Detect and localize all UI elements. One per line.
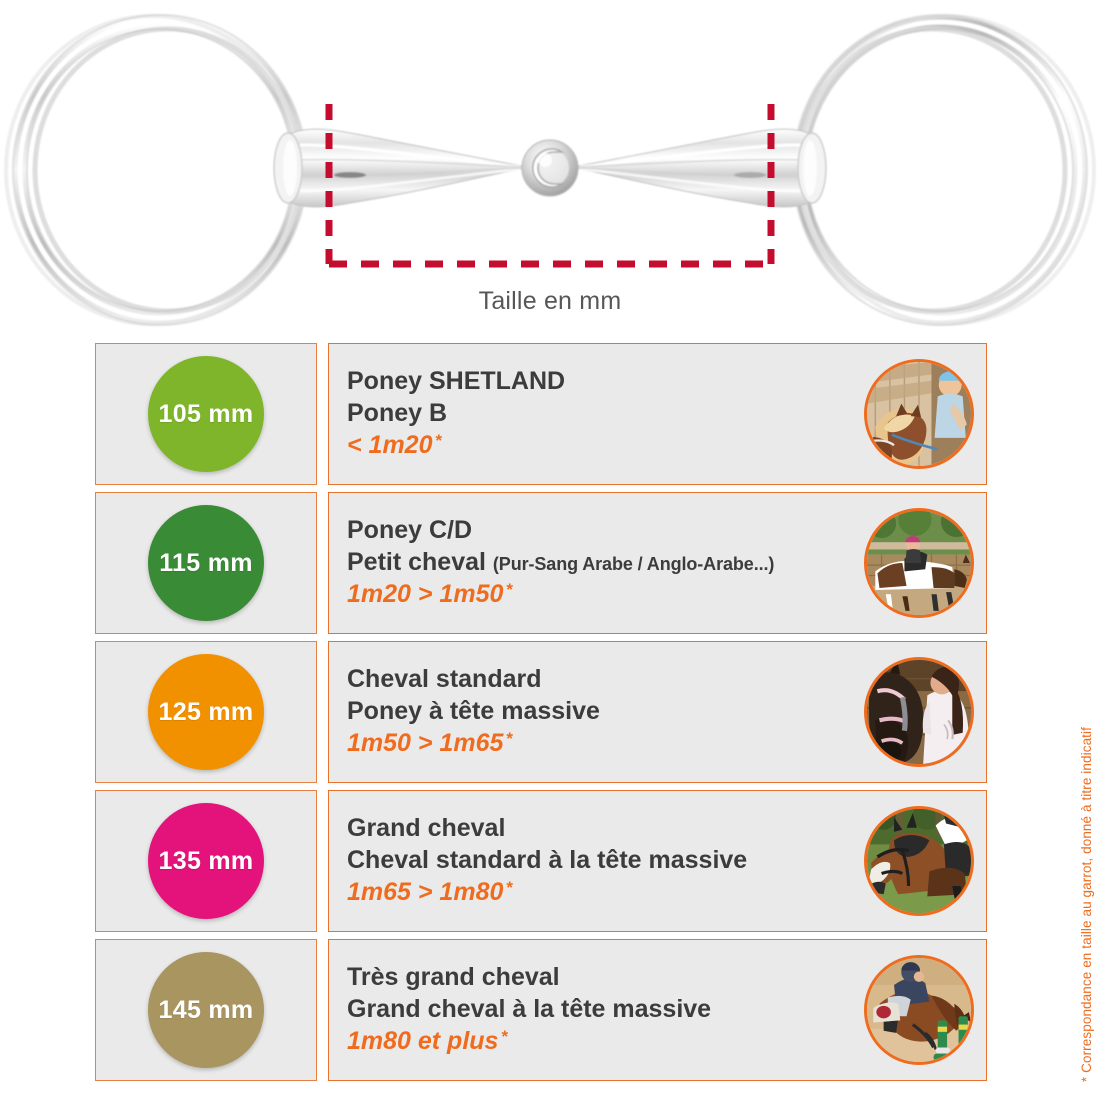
row-line1: Poney SHETLAND <box>347 366 844 398</box>
row-line2-wrap: Poney B <box>347 398 844 430</box>
bit-ring-left <box>6 15 307 325</box>
bit-arm-left <box>274 129 528 207</box>
row-height: 1m80 et plus <box>347 1027 498 1055</box>
row-line1: Très grand cheval <box>347 962 844 994</box>
row-line2: Grand cheval à la tête massive <box>347 995 711 1023</box>
info-lines: Grand cheval Cheval standard à la tête m… <box>347 813 844 908</box>
size-info-cell: Poney SHETLAND Poney B < 1m20* <box>328 343 987 485</box>
row-line2: Poney à tête massive <box>347 697 600 725</box>
row-line2: Cheval standard à la tête massive <box>347 846 747 874</box>
photo-showjumping-rider <box>867 958 971 1062</box>
row-photo <box>864 359 974 469</box>
row-height: < 1m20 <box>347 431 433 459</box>
row-photo <box>864 955 974 1065</box>
size-circle: 105 mm <box>148 356 264 472</box>
row-photo <box>864 657 974 767</box>
size-circle: 145 mm <box>148 952 264 1068</box>
footnote-asterisk: * <box>506 878 513 897</box>
size-value: 145 mm <box>159 996 254 1025</box>
photo-shetland-pony <box>867 362 971 466</box>
photo-bay-horse-with-ear-bonnet <box>867 809 971 913</box>
footnote-asterisk: * <box>436 431 443 450</box>
size-value: 135 mm <box>159 847 254 876</box>
size-value: 125 mm <box>159 698 254 727</box>
row-line2: Petit cheval <box>347 548 486 576</box>
row-line2-wrap: Grand cheval à la tête massive <box>347 994 844 1026</box>
row-line1: Cheval standard <box>347 664 844 696</box>
size-circle: 125 mm <box>148 654 264 770</box>
photo-woman-with-dark-bay-horse <box>867 660 971 764</box>
table-row[interactable]: 115 mm Poney C/D Petit cheval (Pur-Sang … <box>95 492 987 634</box>
row-line2-wrap: Cheval standard à la tête massive <box>347 845 844 877</box>
size-guide-page: Taille en mm 105 mm Poney SHETLAND Poney… <box>0 0 1100 1100</box>
row-height: 1m20 > 1m50 <box>347 580 503 608</box>
footnote-text: * Correspondance en taille au garrot, do… <box>1079 727 1094 1082</box>
row-line2: Poney B <box>347 399 447 427</box>
row-height-wrap: 1m80 et plus* <box>347 1026 844 1058</box>
size-badge-cell: 145 mm <box>95 939 317 1081</box>
footnote-asterisk: * <box>501 1027 508 1046</box>
footnote-asterisk: * <box>506 729 513 748</box>
row-line2-wrap: Petit cheval (Pur-Sang Arabe / Anglo-Ara… <box>347 547 844 579</box>
row-height-wrap: 1m65 > 1m80* <box>347 877 844 909</box>
footnote-asterisk: * <box>506 580 513 599</box>
table-row[interactable]: 145 mm Très grand cheval Grand cheval à … <box>95 939 987 1081</box>
size-circle: 135 mm <box>148 803 264 919</box>
table-row[interactable]: 125 mm Cheval standard Poney à tête mass… <box>95 641 987 783</box>
size-badge-cell: 105 mm <box>95 343 317 485</box>
bit-ring-right <box>793 15 1094 325</box>
size-badge-cell: 135 mm <box>95 790 317 932</box>
size-value: 105 mm <box>159 400 254 429</box>
measure-label: Taille en mm <box>0 287 1100 316</box>
table-row[interactable]: 135 mm Grand cheval Cheval standard à la… <box>95 790 987 932</box>
row-height-wrap: 1m20 > 1m50* <box>347 579 844 611</box>
row-height: 1m50 > 1m65 <box>347 729 503 757</box>
row-line2-paren: (Pur-Sang Arabe / Anglo-Arabe...) <box>493 554 774 574</box>
bit-svg <box>0 0 1100 336</box>
size-badge-cell: 115 mm <box>95 492 317 634</box>
info-lines: Poney C/D Petit cheval (Pur-Sang Arabe /… <box>347 515 844 610</box>
bit-arm-right <box>572 129 826 207</box>
row-height: 1m65 > 1m80 <box>347 878 503 906</box>
size-info-cell: Poney C/D Petit cheval (Pur-Sang Arabe /… <box>328 492 987 634</box>
info-lines: Cheval standard Poney à tête massive 1m5… <box>347 664 844 759</box>
row-photo <box>864 806 974 916</box>
size-badge-cell: 125 mm <box>95 641 317 783</box>
size-info-cell: Très grand cheval Grand cheval à la tête… <box>328 939 987 1081</box>
size-info-cell: Cheval standard Poney à tête massive 1m5… <box>328 641 987 783</box>
row-height-wrap: < 1m20* <box>347 430 844 462</box>
row-line1: Poney C/D <box>347 515 844 547</box>
row-line2-wrap: Poney à tête massive <box>347 696 844 728</box>
size-info-cell: Grand cheval Cheval standard à la tête m… <box>328 790 987 932</box>
photo-rider-on-pinto-pony <box>867 511 971 615</box>
size-table: 105 mm Poney SHETLAND Poney B < 1m20* <box>95 343 987 1088</box>
table-row[interactable]: 105 mm Poney SHETLAND Poney B < 1m20* <box>95 343 987 485</box>
bit-center-joint <box>522 140 578 196</box>
size-circle: 115 mm <box>148 505 264 621</box>
row-photo <box>864 508 974 618</box>
info-lines: Très grand cheval Grand cheval à la tête… <box>347 962 844 1057</box>
horse-bit-illustration: Taille en mm <box>0 0 1100 336</box>
row-line1: Grand cheval <box>347 813 844 845</box>
info-lines: Poney SHETLAND Poney B < 1m20* <box>347 366 844 461</box>
row-height-wrap: 1m50 > 1m65* <box>347 728 844 760</box>
size-value: 115 mm <box>159 549 253 578</box>
